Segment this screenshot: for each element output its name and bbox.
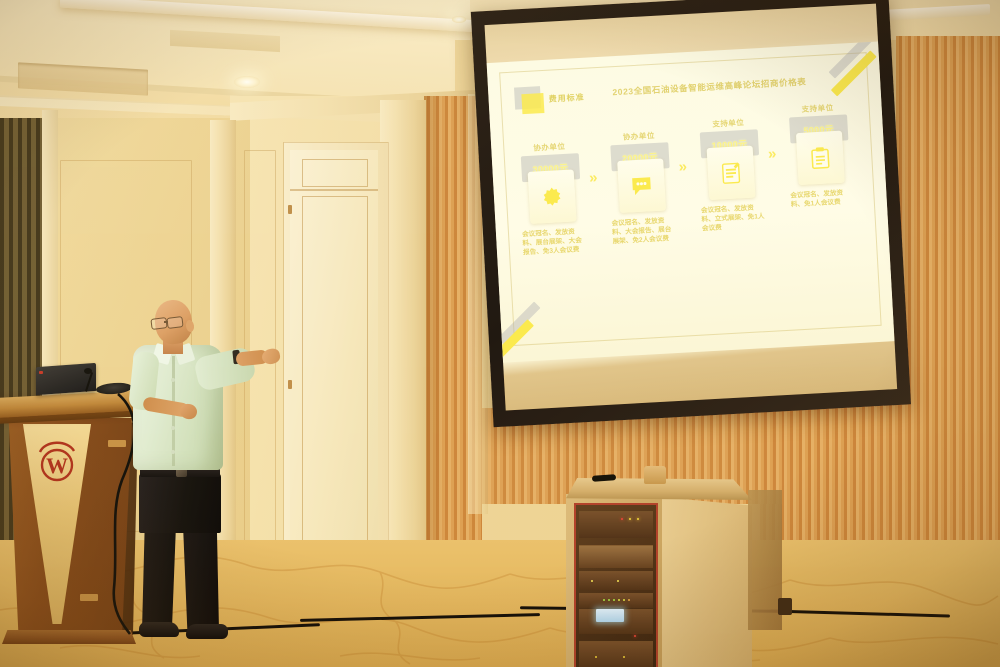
led-meter-5 <box>623 599 625 601</box>
led-indicator-amber-2 <box>637 518 639 520</box>
presenter-trousers <box>139 473 221 533</box>
led-meter-2 <box>608 599 610 601</box>
icon-card <box>796 131 845 185</box>
flow-arrow-2: » <box>678 158 684 175</box>
slide-tag-label: 费用标准 <box>548 92 585 105</box>
rack-lcd-display <box>596 609 624 622</box>
recessed-downlight-icon-2 <box>452 16 466 23</box>
led-indicator-power <box>634 635 636 637</box>
svg-text:W: W <box>46 453 68 478</box>
gear-icon <box>539 184 564 209</box>
eyeglasses-bridge-icon <box>164 321 168 323</box>
price-column-1: 协办单位 30000元 会议冠名、发放资料、展台展架、大会报告、免3人会议费 <box>513 140 591 258</box>
slide-content: 费用标准 2023全国石油设备智能运维高峰论坛招商价格表 协办单位 30000元 <box>487 42 895 363</box>
column-description: 会议冠名、发放资料、立式展架、免1人会议费 <box>697 203 770 234</box>
led-indicator <box>623 656 625 658</box>
door-panel-main <box>302 196 368 558</box>
door-rail <box>290 189 378 191</box>
eyeglasses-lens-left-icon <box>150 317 167 330</box>
recessed-downlight-icon <box>234 76 260 88</box>
led-indicator <box>617 580 619 582</box>
microphone-head-icon <box>84 368 92 374</box>
screen-surface: 费用标准 2023全国石油设备智能运维高峰论坛招商价格表 协办单位 30000元 <box>485 4 898 411</box>
led-indicator <box>595 656 597 658</box>
flow-arrow-3: » <box>768 145 774 162</box>
rack-unit-mixer <box>579 571 653 590</box>
equipment-rack-side-panel <box>660 497 752 667</box>
led-indicator <box>591 580 593 582</box>
eyeglasses-lens-right-icon <box>166 316 183 329</box>
lectern-logo: W <box>30 440 84 486</box>
icon-card <box>617 159 666 213</box>
led-meter-1 <box>603 599 605 601</box>
door-panel-top <box>302 159 368 187</box>
column-description: 会议冠名、发放资料、大会报告、展台展架、免2人会议费 <box>607 216 680 247</box>
led-indicator-amber <box>629 518 631 520</box>
rack-unit-meter <box>579 593 653 608</box>
laptop-logo-icon <box>39 371 43 374</box>
slide-tag-badge <box>521 93 544 114</box>
price-column-4: 支持单位 5000元 会议冠名、发放资料、免1人会议费 <box>781 101 859 210</box>
document-list-icon <box>718 160 743 185</box>
presenter-shoe-right <box>186 624 228 639</box>
cable-clip-lower <box>80 594 98 601</box>
wall-outlet <box>778 598 792 615</box>
presenter-leg-right <box>183 525 219 630</box>
paper-cup <box>644 466 666 484</box>
shirt-button-3 <box>171 426 175 430</box>
cable-clip-upper <box>108 440 126 447</box>
price-column-3: 支持单位 10000元 会议冠名、发放资料、立式展架、免1人会议费 <box>692 116 770 234</box>
rack-unit-amplifier <box>579 511 653 538</box>
price-column-2: 协办单位 20000元 会议冠名、发放资料、大会报告、展台展架、免2人会议费 <box>603 129 681 247</box>
column-description: 会议冠名、发放资料、展台展架、大会报告、免3人会议费 <box>518 227 591 258</box>
icon-card <box>707 146 756 200</box>
flow-arrow-1: » <box>589 169 595 186</box>
presenter-leg-left <box>142 525 176 630</box>
led-meter-4 <box>618 599 620 601</box>
door-hinge-icon-bottom <box>288 380 292 389</box>
hotel-w-logo-icon: W <box>30 440 84 486</box>
led-meter-3 <box>613 599 615 601</box>
rack-unit-power <box>579 641 653 667</box>
speech-bubble-icon <box>629 174 654 197</box>
wall-mount-bracket <box>748 490 782 630</box>
led-indicator-red <box>621 518 623 520</box>
rack-unit-shelf <box>579 545 653 568</box>
presentation-room-photo: 费用标准 2023全国石油设备智能运维高峰论坛招商价格表 协办单位 30000元 <box>0 0 1000 667</box>
projection-screen: 费用标准 2023全国石油设备智能运维高峰论坛招商价格表 协办单位 30000元 <box>471 0 913 431</box>
door-hinge-icon-top <box>288 205 292 214</box>
led-meter-6 <box>628 599 630 601</box>
wallpaper-shadow <box>424 96 444 606</box>
equipment-rack-glass-door[interactable] <box>574 503 658 667</box>
shirt-button-1 <box>171 378 175 382</box>
shirt-button-4 <box>171 450 175 454</box>
icon-card <box>528 169 577 223</box>
clipboard-icon <box>808 145 833 170</box>
presenter-shoe-left <box>139 622 179 637</box>
